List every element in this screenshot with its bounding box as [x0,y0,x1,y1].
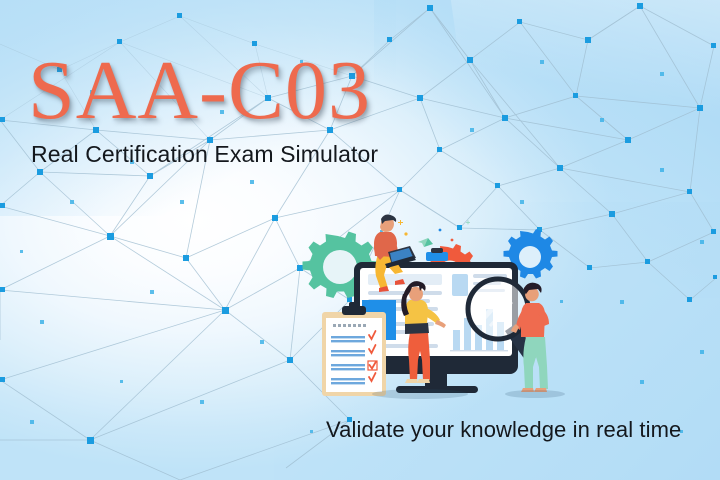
decorative-accents [398,220,470,247]
clipboard-checklist [322,302,386,396]
banner-root: SAA-C03 Real Certification Exam Simulato… [0,0,720,480]
exam-simulator-illustration [300,214,590,409]
headline-block: SAA-C03 Real Certification Exam Simulato… [28,52,378,168]
page-title: SAA-C03 [28,52,378,129]
tagline: Validate your knowledge in real time [326,417,681,443]
page-subtitle: Real Certification Exam Simulator [31,141,378,168]
